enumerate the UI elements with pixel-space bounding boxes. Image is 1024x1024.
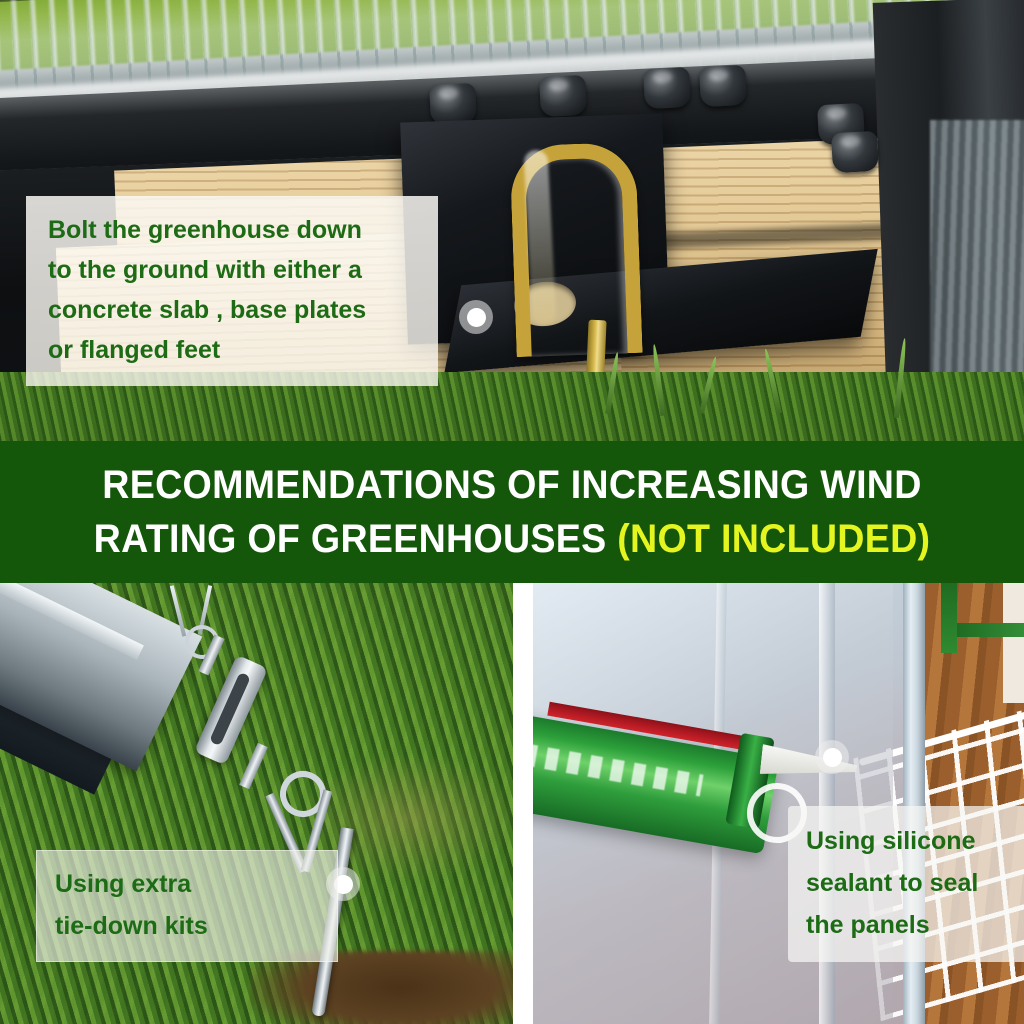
hotspot-dot-top[interactable] — [459, 300, 493, 334]
background-wall — [1003, 583, 1024, 703]
dome-nut-icon — [539, 75, 587, 117]
turnbuckle-rod-lower — [239, 743, 268, 789]
dome-nut-icon — [429, 83, 477, 125]
dome-nut-icon — [699, 65, 747, 107]
headline-line-2: RATING OF GREENHOUSES (NOT INCLUDED) — [31, 512, 994, 566]
hotspot-dot-bottom-right[interactable] — [815, 740, 849, 774]
dome-nut-icon — [831, 131, 879, 173]
headline-line-1: RECOMMENDATIONS OF INCREASING WIND — [31, 458, 994, 512]
headline-banner: RECOMMENDATIONS OF INCREASING WIND RATIN… — [0, 441, 1024, 583]
caption-line: or flanged feet — [48, 330, 422, 370]
caption-line: Bolt the greenhouse down — [48, 210, 422, 250]
caption-line: Using extra — [55, 863, 323, 905]
caption-line: concrete slab , base plates — [48, 290, 422, 330]
caption-silicone-sealant: Using silicone sealant to seal the panel… — [788, 806, 1024, 962]
green-frame-horizontal — [957, 623, 1024, 637]
caption-bolt-down: Bolt the greenhouse down to the ground w… — [26, 196, 438, 386]
wind-rating-infographic: Bolt the greenhouse down to the ground w… — [0, 0, 1024, 1024]
photo-divider — [513, 583, 533, 1024]
dome-nut-icon — [643, 67, 691, 109]
headline-line-2-text: RATING OF GREENHOUSES — [94, 517, 618, 561]
caption-line: tie-down kits — [55, 905, 323, 947]
caption-tie-down-kit: Using extra tie-down kits — [36, 850, 338, 962]
caption-line: to the ground with either a — [48, 250, 422, 290]
caption-line: sealant to seal — [806, 862, 1024, 904]
caption-line: Using silicone — [806, 820, 1024, 862]
caption-line: the panels — [806, 904, 1024, 946]
headline-not-included: (NOT INCLUDED) — [617, 517, 930, 561]
green-frame-vertical — [941, 583, 957, 653]
